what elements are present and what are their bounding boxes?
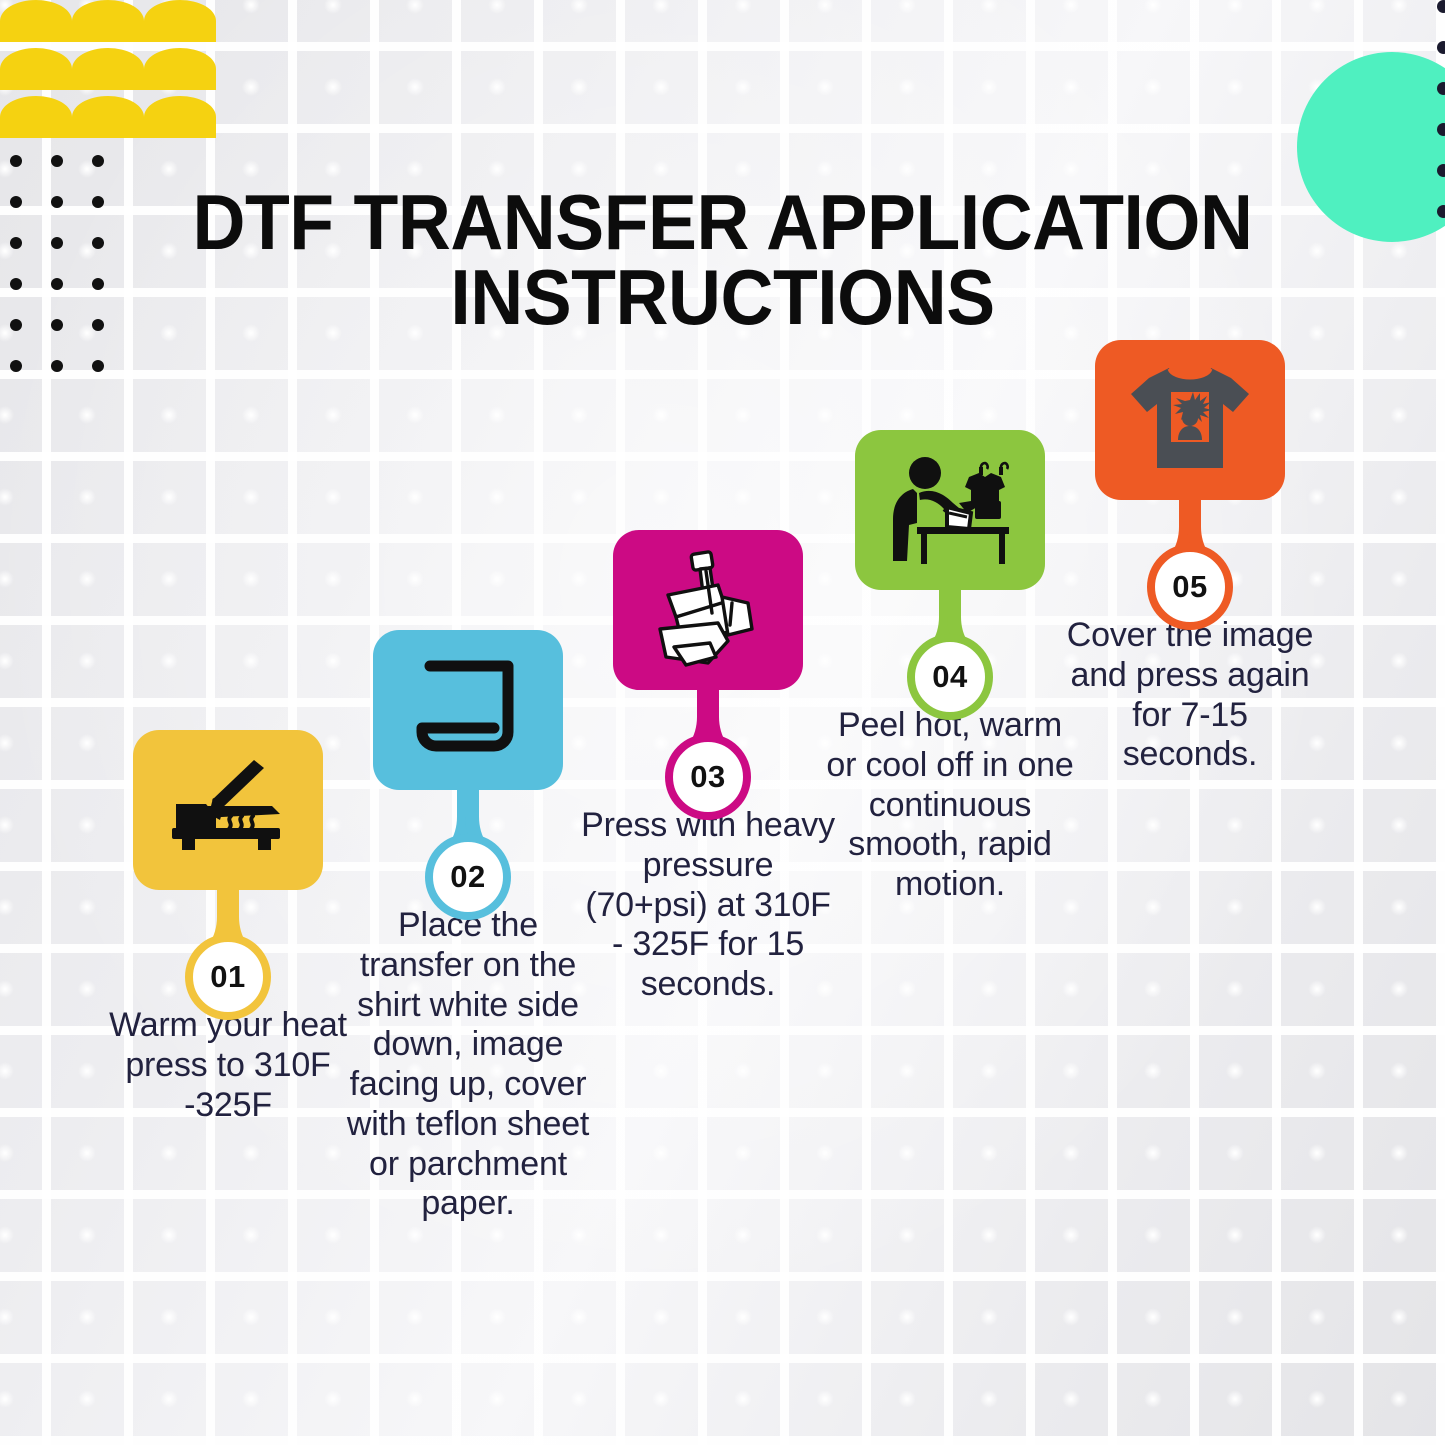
yellow-arch-decoration [0,0,1445,138]
arch-shape [144,48,216,90]
step-04-badge: 04 [907,634,993,720]
title-line-1: DTF TRANSFER APPLICATION [156,185,1289,260]
arch-shape [0,0,72,42]
page-title: DTF TRANSFER APPLICATION INSTRUCTIONS [43,185,1401,335]
heat-press-icon [168,758,288,862]
step-04-number: 04 [932,659,967,695]
arch-shape [72,0,144,42]
step-05: 05 Cover the image and press again for 7… [1040,340,1340,775]
step-04-card[interactable] [855,430,1045,590]
arch-shape [72,96,144,138]
step-01-number: 01 [210,959,245,995]
arch-shape [144,0,216,42]
arch-shape [144,96,216,138]
arch-row [0,48,1445,90]
step-02-badge: 02 [425,834,511,920]
step-05-card[interactable] [1095,340,1285,500]
step-05-connector: 05 [1040,492,1340,610]
arch-shape [0,96,72,138]
arch-row [0,96,1445,138]
transfer-sheet-icon [416,658,520,762]
heat-press-machine-icon [646,549,770,671]
arch-shape [72,48,144,90]
step-05-number: 05 [1172,569,1207,605]
step-01-badge: 01 [185,934,271,1020]
title-line-2: INSTRUCTIONS [156,260,1289,335]
step-02-card[interactable] [373,630,563,790]
peel-transfer-person-icon [883,451,1017,569]
step-03-number: 03 [690,759,725,795]
step-01-card[interactable] [133,730,323,890]
step-02-number: 02 [450,859,485,895]
printed-tshirt-icon [1125,362,1255,478]
arch-shape [0,48,72,90]
step-05-badge: 05 [1147,544,1233,630]
step-03-badge: 03 [665,734,751,820]
step-03-caption: Press with heavy pressure (70+psi) at 31… [580,806,836,1005]
arch-row [0,0,1445,42]
step-05-caption: Cover the image and press again for 7-15… [1062,616,1318,775]
step-03-card[interactable] [613,530,803,690]
